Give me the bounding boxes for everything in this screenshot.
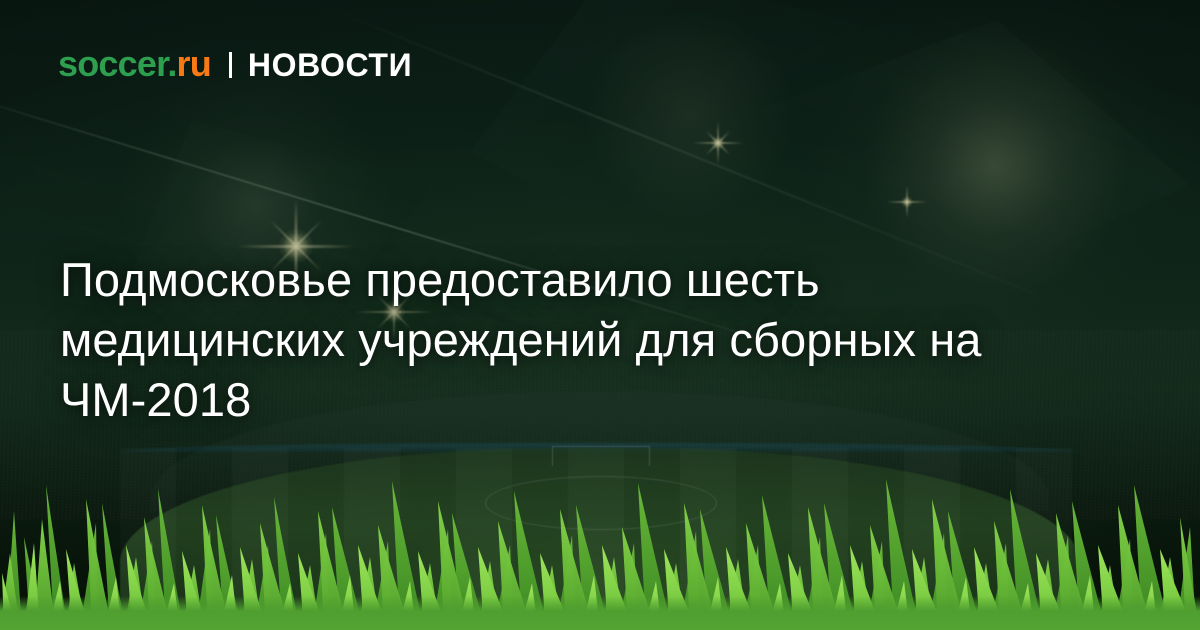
stadium-roof-facet xyxy=(470,0,890,290)
header-separator xyxy=(229,52,232,78)
share-card: soccer.ru НОВОСТИ Подмосковье предостави… xyxy=(0,0,1200,630)
site-logo[interactable]: soccer.ru xyxy=(58,46,211,82)
logo-brand-text: soccer xyxy=(58,43,167,84)
floodlight-flare-icon xyxy=(885,180,929,224)
goal-icon xyxy=(552,446,650,466)
logo-dot: . xyxy=(167,43,176,84)
pitch-center-circle xyxy=(485,476,717,530)
section-label: НОВОСТИ xyxy=(248,49,412,81)
site-header: soccer.ru НОВОСТИ xyxy=(58,46,412,82)
floodlight-flare-icon xyxy=(689,114,747,172)
logo-tld-text: ru xyxy=(177,43,211,84)
article-title: Подмосковье предоставило шесть медицинск… xyxy=(60,250,1090,430)
